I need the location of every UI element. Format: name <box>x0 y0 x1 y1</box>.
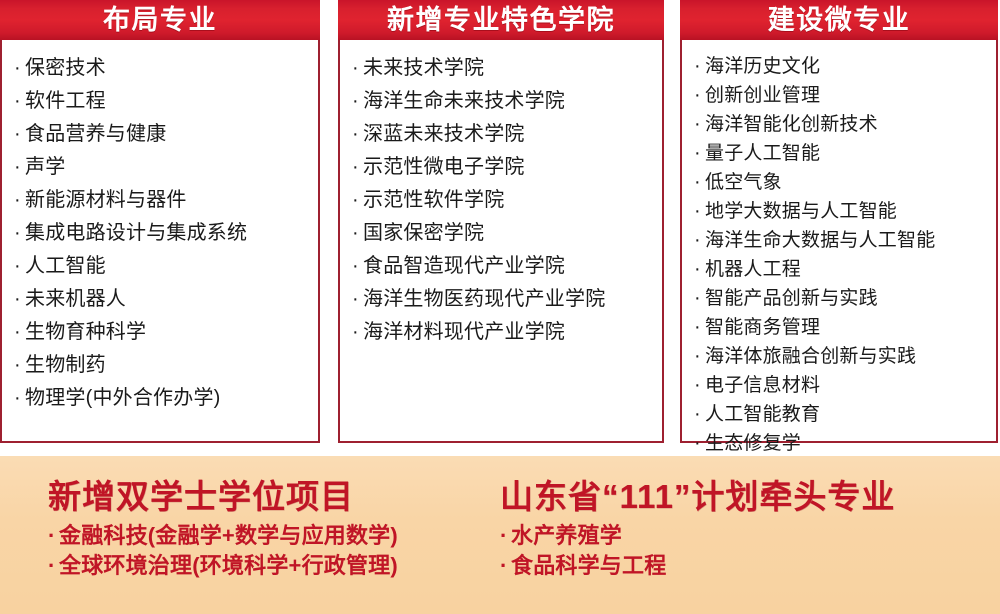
bullet-icon: · <box>500 521 511 551</box>
bullet-icon: · <box>352 118 363 151</box>
list-item-label: 量子人工智能 <box>705 143 820 164</box>
list-item: ·生物育种科学 <box>14 316 310 349</box>
panel-new-featured-colleges: 新增专业特色学院 ·未来技术学院 ·海洋生命未来技术学院 ·深蓝未来技术学院 ·… <box>338 0 664 443</box>
bullet-icon: · <box>694 371 705 400</box>
list-item-label: 软件工程 <box>25 90 106 112</box>
panel-body-layout-majors: ·保密技术 ·软件工程 ·食品营养与健康 ·声学 ·新能源材料与器件 ·集成电路… <box>2 40 318 441</box>
bullet-icon: · <box>694 110 705 139</box>
list-item-label: 集成电路设计与集成系统 <box>25 222 247 244</box>
list-item: ·海洋历史文化 <box>694 52 988 81</box>
list-item-label: 电子信息材料 <box>705 375 820 396</box>
bottom-band-inner: 新增双学士学位项目 ·金融科技(金融学+数学与应用数学) ·全球环境治理(环境科… <box>0 456 1000 614</box>
list-new-featured-colleges: ·未来技术学院 ·海洋生命未来技术学院 ·深蓝未来技术学院 ·示范性微电子学院 … <box>352 52 654 349</box>
list-item-label: 未来机器人 <box>25 288 126 310</box>
list-item: ·人工智能 <box>14 250 310 283</box>
bullet-icon: · <box>352 316 363 349</box>
list-item-label: 生态修复学 <box>705 433 801 454</box>
bullet-icon: · <box>694 342 705 371</box>
list-item-label: 海洋材料现代产业学院 <box>363 321 565 343</box>
list-item-label: 低空气象 <box>705 172 782 193</box>
list-item-label: 生物育种科学 <box>25 321 146 343</box>
list-item: ·海洋生命大数据与人工智能 <box>694 226 988 255</box>
section-dual-bachelor-programs: 新增双学士学位项目 ·金融科技(金融学+数学与应用数学) ·全球环境治理(环境科… <box>48 456 398 581</box>
list-item-label: 示范性软件学院 <box>363 189 504 211</box>
bullet-icon: · <box>14 349 25 382</box>
bullet-icon: · <box>14 382 25 415</box>
list-item: ·食品智造现代产业学院 <box>352 250 654 283</box>
list-item-label: 食品营养与健康 <box>25 123 166 145</box>
bullet-icon: · <box>14 283 25 316</box>
bullet-icon: · <box>48 521 59 551</box>
bullet-icon: · <box>352 85 363 118</box>
list-item-label: 深蓝未来技术学院 <box>363 123 525 145</box>
bullet-icon: · <box>14 52 25 85</box>
list-item: ·物理学(中外合作办学) <box>14 382 310 415</box>
list-item: ·示范性微电子学院 <box>352 151 654 184</box>
list-item: ·水产养殖学 <box>500 521 895 551</box>
list-item-label: 智能商务管理 <box>705 317 820 338</box>
list-item-label: 未来技术学院 <box>363 57 484 79</box>
list-item: ·食品营养与健康 <box>14 118 310 151</box>
panel-title-new-featured-colleges: 新增专业特色学院 <box>387 7 615 34</box>
bullet-icon: · <box>14 118 25 151</box>
panel-body-micro-majors: ·海洋历史文化 ·创新创业管理 ·海洋智能化创新技术 ·量子人工智能 ·低空气象… <box>682 40 996 466</box>
list-item: ·保密技术 <box>14 52 310 85</box>
bullet-icon: · <box>694 255 705 284</box>
list-item-label: 海洋体旅融合创新与实践 <box>705 346 916 367</box>
bottom-band: 新增双学士学位项目 ·金融科技(金融学+数学与应用数学) ·全球环境治理(环境科… <box>0 456 1000 614</box>
list-item: ·深蓝未来技术学院 <box>352 118 654 151</box>
list-item: ·创新创业管理 <box>694 81 988 110</box>
list-item: ·未来技术学院 <box>352 52 654 85</box>
panel-title-layout-majors: 布局专业 <box>103 7 217 34</box>
bullet-icon: · <box>694 400 705 429</box>
panel-header-layout-majors: 布局专业 <box>0 0 320 40</box>
panels-row: 布局专业 ·保密技术 ·软件工程 ·食品营养与健康 ·声学 ·新能源材料与器件 … <box>0 0 1000 450</box>
bullet-icon: · <box>694 226 705 255</box>
list-item: ·海洋智能化创新技术 <box>694 110 988 139</box>
list-item-label: 水产养殖学 <box>511 523 622 548</box>
list-item: ·海洋材料现代产业学院 <box>352 316 654 349</box>
list-item: ·海洋生物医药现代产业学院 <box>352 283 654 316</box>
list-item: ·海洋生命未来技术学院 <box>352 85 654 118</box>
list-item-label: 物理学(中外合作办学) <box>25 387 221 409</box>
list-item-label: 机器人工程 <box>705 259 801 280</box>
list-item-label: 全球环境治理(环境科学+行政管理) <box>59 553 398 578</box>
list-item-label: 国家保密学院 <box>363 222 484 244</box>
bullet-icon: · <box>352 52 363 85</box>
list-item-label: 地学大数据与人工智能 <box>705 201 897 222</box>
list-item: ·未来机器人 <box>14 283 310 316</box>
list-item-label: 生物制药 <box>25 354 106 376</box>
list-item: ·国家保密学院 <box>352 217 654 250</box>
list-item: ·生态修复学 <box>694 429 988 458</box>
bullet-icon: · <box>352 283 363 316</box>
list-shandong-111-plan: ·水产养殖学 ·食品科学与工程 <box>500 521 895 581</box>
list-item-label: 保密技术 <box>25 57 106 79</box>
bullet-icon: · <box>14 151 25 184</box>
list-item-label: 人工智能 <box>25 255 106 277</box>
list-item-label: 新能源材料与器件 <box>25 189 187 211</box>
list-item: ·低空气象 <box>694 168 988 197</box>
infographic-root: 布局专业 ·保密技术 ·软件工程 ·食品营养与健康 ·声学 ·新能源材料与器件 … <box>0 0 1000 614</box>
list-dual-bachelor-programs: ·金融科技(金融学+数学与应用数学) ·全球环境治理(环境科学+行政管理) <box>48 521 398 581</box>
panel-micro-majors: 建设微专业 ·海洋历史文化 ·创新创业管理 ·海洋智能化创新技术 ·量子人工智能… <box>680 0 998 443</box>
bullet-icon: · <box>694 429 705 458</box>
list-item-label: 海洋生命大数据与人工智能 <box>705 230 935 251</box>
bullet-icon: · <box>352 151 363 184</box>
list-item: ·人工智能教育 <box>694 400 988 429</box>
list-item: ·金融科技(金融学+数学与应用数学) <box>48 521 398 551</box>
list-item-label: 示范性微电子学院 <box>363 156 525 178</box>
bullet-icon: · <box>352 250 363 283</box>
list-item-label: 海洋生物医药现代产业学院 <box>363 288 605 310</box>
list-item-label: 金融科技(金融学+数学与应用数学) <box>59 523 398 548</box>
section-shandong-111-plan: 山东省“111”计划牵头专业 ·水产养殖学 ·食品科学与工程 <box>500 456 895 581</box>
panel-title-micro-majors: 建设微专业 <box>768 7 911 34</box>
list-item: ·集成电路设计与集成系统 <box>14 217 310 250</box>
list-item: ·机器人工程 <box>694 255 988 284</box>
bullet-icon: · <box>694 168 705 197</box>
list-item-label: 食品智造现代产业学院 <box>363 255 565 277</box>
list-item-label: 海洋生命未来技术学院 <box>363 90 565 112</box>
list-item: ·示范性软件学院 <box>352 184 654 217</box>
list-item-label: 海洋历史文化 <box>705 56 820 77</box>
bullet-icon: · <box>352 217 363 250</box>
list-item: ·新能源材料与器件 <box>14 184 310 217</box>
bullet-icon: · <box>694 52 705 81</box>
bullet-icon: · <box>694 313 705 342</box>
panel-header-micro-majors: 建设微专业 <box>680 0 998 40</box>
list-layout-majors: ·保密技术 ·软件工程 ·食品营养与健康 ·声学 ·新能源材料与器件 ·集成电路… <box>14 52 310 415</box>
list-item: ·软件工程 <box>14 85 310 118</box>
list-item-label: 声学 <box>25 156 65 178</box>
panel-header-new-featured-colleges: 新增专业特色学院 <box>338 0 664 40</box>
list-item: ·海洋体旅融合创新与实践 <box>694 342 988 371</box>
list-item: ·智能商务管理 <box>694 313 988 342</box>
list-micro-majors: ·海洋历史文化 ·创新创业管理 ·海洋智能化创新技术 ·量子人工智能 ·低空气象… <box>694 52 988 458</box>
list-item-label: 智能产品创新与实践 <box>705 288 878 309</box>
section-title-shandong-111-plan: 山东省“111”计划牵头专业 <box>500 478 895 517</box>
bullet-icon: · <box>352 184 363 217</box>
list-item-label: 创新创业管理 <box>705 85 820 106</box>
list-item: ·智能产品创新与实践 <box>694 284 988 313</box>
list-item: ·量子人工智能 <box>694 139 988 168</box>
bullet-icon: · <box>14 184 25 217</box>
bullet-icon: · <box>14 217 25 250</box>
list-item: ·食品科学与工程 <box>500 551 895 581</box>
list-item: ·生物制药 <box>14 349 310 382</box>
bullet-icon: · <box>694 81 705 110</box>
list-item: ·电子信息材料 <box>694 371 988 400</box>
bullet-icon: · <box>694 197 705 226</box>
list-item: ·地学大数据与人工智能 <box>694 197 988 226</box>
list-item: ·声学 <box>14 151 310 184</box>
bullet-icon: · <box>14 85 25 118</box>
bullet-icon: · <box>694 139 705 168</box>
section-title-dual-bachelor-programs: 新增双学士学位项目 <box>48 478 398 517</box>
bullet-icon: · <box>500 551 511 581</box>
panel-body-new-featured-colleges: ·未来技术学院 ·海洋生命未来技术学院 ·深蓝未来技术学院 ·示范性微电子学院 … <box>340 40 662 441</box>
list-item-label: 食品科学与工程 <box>511 553 666 578</box>
bullet-icon: · <box>14 250 25 283</box>
list-item-label: 海洋智能化创新技术 <box>705 114 878 135</box>
bullet-icon: · <box>48 551 59 581</box>
panel-layout-majors: 布局专业 ·保密技术 ·软件工程 ·食品营养与健康 ·声学 ·新能源材料与器件 … <box>0 0 320 443</box>
list-item: ·全球环境治理(环境科学+行政管理) <box>48 551 398 581</box>
bullet-icon: · <box>694 284 705 313</box>
list-item-label: 人工智能教育 <box>705 404 820 425</box>
bullet-icon: · <box>14 316 25 349</box>
